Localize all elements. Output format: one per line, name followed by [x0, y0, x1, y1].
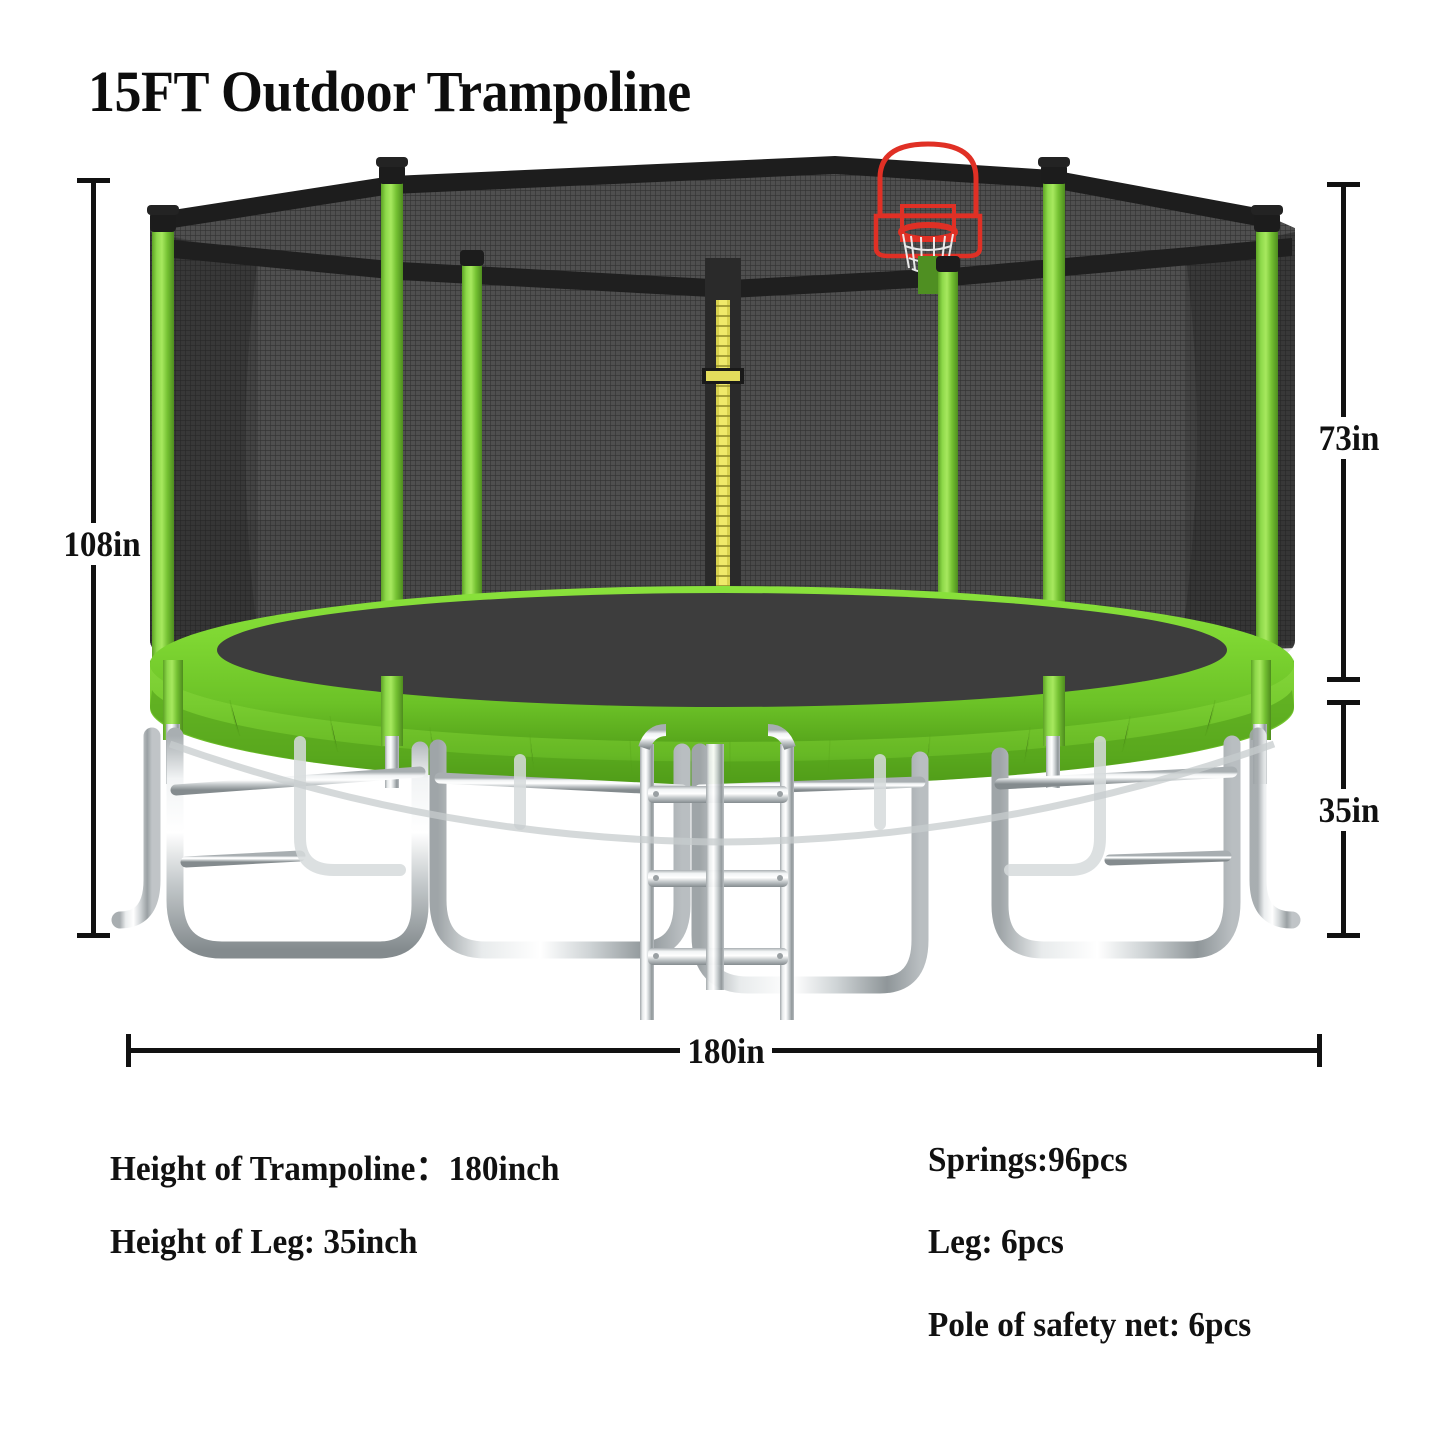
spec-height-of-trampoline: Height of Trampoline：180inch — [110, 1140, 560, 1191]
dimension-label-total-height: 108in — [56, 523, 148, 565]
spec-legs: Leg: 6pcs — [928, 1222, 1064, 1262]
dimension-cap-leg-bottom — [1327, 933, 1360, 938]
dimension-label-leg-height: 35in — [1311, 789, 1386, 831]
spec-height-of-leg: Height of Leg: 35inch — [110, 1222, 418, 1262]
dimension-cap-top — [77, 178, 110, 183]
dimension-cap-bottom — [77, 933, 110, 938]
spec-poles: Pole of safety net: 6pcs — [928, 1305, 1251, 1345]
product-spec-diagram: 15FT Outdoor Trampoline — [0, 0, 1445, 1445]
dimension-cap-right — [1317, 1034, 1322, 1067]
spec-springs: Springs:96pcs — [928, 1140, 1128, 1180]
dimension-label-diameter: 180in — [680, 1030, 772, 1072]
dimension-cap-leg-top — [1327, 700, 1360, 705]
dimension-cap-net-bottom — [1327, 677, 1360, 682]
dimension-label-net-height: 73in — [1311, 417, 1386, 459]
dimension-cap-left — [126, 1034, 131, 1067]
dimension-cap-net-top — [1327, 182, 1360, 187]
